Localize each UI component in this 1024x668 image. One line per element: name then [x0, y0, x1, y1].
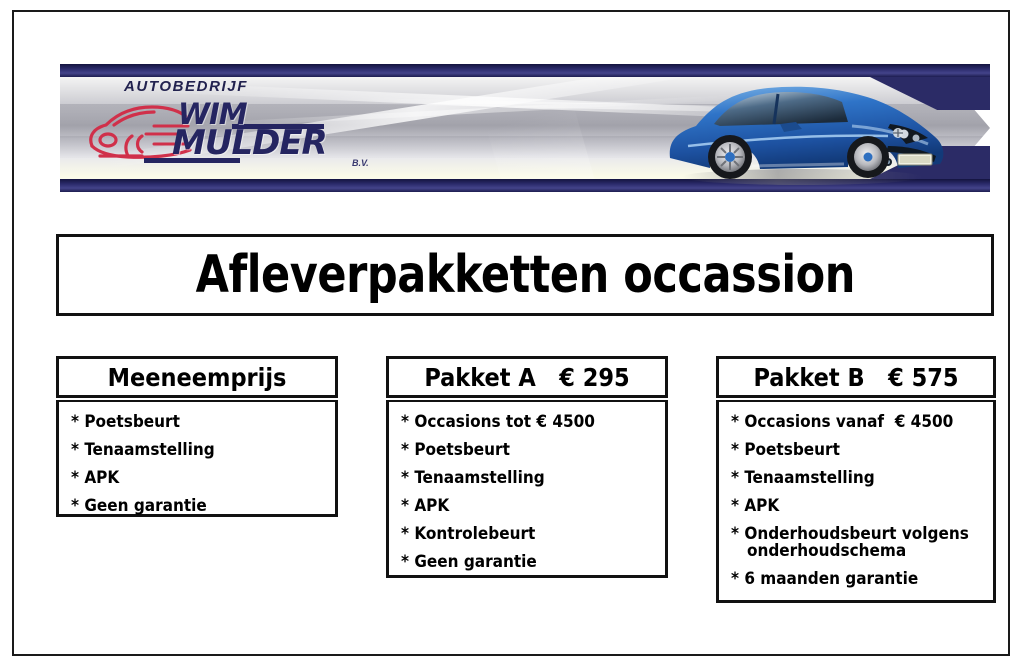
list-item: * Tenaamstelling [719, 470, 993, 487]
card-title: Pakket B € 575 [753, 363, 958, 392]
package-card-pakket-a: Pakket A € 295 * Occasions tot € 4500 * … [386, 356, 668, 578]
header-banner: AUTOBEDRIJF [60, 64, 990, 192]
list-item: * Tenaamstelling [389, 470, 665, 487]
blue-car-photo [652, 74, 952, 186]
list-item: * Kontrolebeurt [389, 526, 665, 543]
list-item: * Geen garantie [389, 554, 665, 571]
card-title: Pakket A € 295 [424, 363, 629, 392]
card-title: Meeneemprijs [108, 363, 287, 392]
list-item: * Occasions tot € 4500 [389, 414, 665, 431]
list-item: * Geen garantie [59, 498, 335, 515]
card-body-pakket-b: * Occasions vanaf € 4500 * Poetsbeurt * … [716, 400, 996, 603]
package-card-pakket-b: Pakket B € 575 * Occasions vanaf € 4500 … [716, 356, 996, 603]
list-item: * APK [719, 498, 993, 515]
list-item: * APK [389, 498, 665, 515]
card-header-pakket-b: Pakket B € 575 [716, 356, 996, 398]
list-item: * 6 maanden garantie [719, 571, 993, 588]
card-header-pakket-a: Pakket A € 295 [386, 356, 668, 398]
package-card-meeneemprijs: Meeneemprijs * Poetsbeurt * Tenaamstelli… [56, 356, 338, 517]
list-item: * Tenaamstelling [59, 442, 335, 459]
card-body-pakket-a: * Occasions tot € 4500 * Poetsbeurt * Te… [386, 400, 668, 578]
list-item: * Poetsbeurt [389, 442, 665, 459]
page-root: AUTOBEDRIJF [0, 0, 1024, 668]
list-item: * Onderhoudsbeurt volgens onderhoudschem… [719, 526, 993, 560]
company-logo: AUTOBEDRIJF [84, 78, 374, 182]
logo-name-line2: MULDER [172, 126, 327, 160]
logo-wordmark: WIM MULDER B.V. [172, 100, 382, 178]
card-header-meeneemprijs: Meeneemprijs [56, 356, 338, 398]
list-item: * Poetsbeurt [719, 442, 993, 459]
card-body-meeneemprijs: * Poetsbeurt * Tenaamstelling * APK * Ge… [56, 400, 338, 517]
page-title-box: Afleverpakketten occassion [56, 234, 994, 316]
list-item: * Occasions vanaf € 4500 [719, 414, 993, 431]
page-title: Afleverpakketten occassion [195, 245, 854, 305]
list-item: * APK [59, 470, 335, 487]
list-item: * Poetsbeurt [59, 414, 335, 431]
logo-tagline: AUTOBEDRIJF [124, 78, 248, 95]
logo-suffix: B.V. [352, 158, 369, 168]
page-border-frame: AUTOBEDRIJF [12, 10, 1010, 656]
